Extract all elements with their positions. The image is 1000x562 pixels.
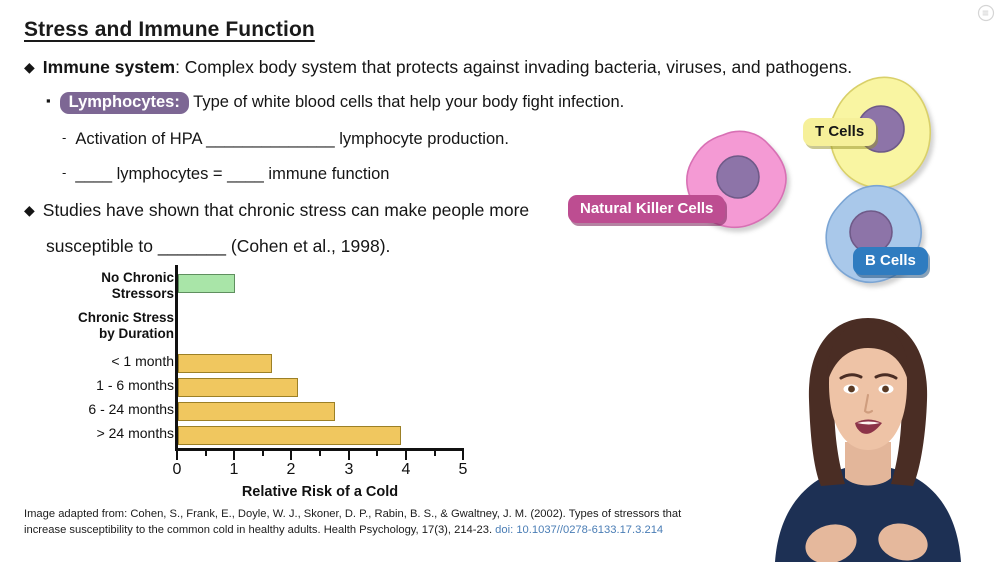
ylabel-line-1: No Chronic (101, 270, 174, 285)
b-cell-illustration (817, 180, 932, 295)
ylabel-6-24-months: 6 - 24 months (88, 402, 174, 418)
ylabel-line-4: by Duration (99, 326, 174, 341)
t-cells-label: T Cells (803, 118, 876, 146)
xtick-minor-0-5 (205, 451, 207, 456)
bar-lt-1-month (178, 354, 272, 373)
xtick-minor-3-5 (376, 451, 378, 456)
xtick-5 (462, 451, 464, 460)
presenter-video-overlay (735, 292, 1000, 562)
xtick-label-3: 3 (345, 461, 354, 479)
xtick-label-1: 1 (230, 461, 239, 479)
xtick-0 (176, 451, 178, 460)
chart-x-axis-title: Relative Risk of a Cold (175, 484, 465, 500)
xtick-2 (290, 451, 292, 460)
bullet-studies-line1: ◆Studies have shown that chronic stress … (24, 200, 529, 221)
diamond-bullet-icon: ◆ (24, 59, 35, 75)
xtick-minor-1-5 (262, 451, 264, 456)
square-bullet-icon: ▪ (46, 93, 51, 108)
diamond-bullet-icon-2: ◆ (24, 202, 35, 218)
xtick-3 (348, 451, 350, 460)
citation: Image adapted from: Cohen, S., Frank, E.… (24, 506, 704, 538)
bullet-studies-line2: susceptible to _______ (Cohen et al., 19… (46, 236, 390, 257)
xtick-minor-4-5 (434, 451, 436, 456)
natural-killer-cell-illustration (675, 127, 795, 242)
ylabel-line-3: Chronic Stress (78, 310, 174, 325)
citation-doi-link[interactable]: doi: 10.1037//0278-6133.17.3.214 (495, 524, 663, 536)
bullet-lymphocytes: ▪Lymphocytes: Type of white blood cells … (46, 92, 624, 114)
xtick-1 (233, 451, 235, 460)
subbullet-lymphocyte-equation: -____ lymphocytes = ____ immune function (62, 165, 390, 185)
subbullet-text-hpa: Activation of HPA ______________ lymphoc… (75, 130, 509, 148)
page-title: Stress and Immune Function (24, 18, 315, 42)
subbullet-text-equation: ____ lymphocytes = ____ immune function (75, 165, 389, 183)
natural-killer-cells-label: Natural Killer Cells (568, 195, 725, 223)
xtick-label-5: 5 (459, 461, 468, 479)
xtick-label-2: 2 (287, 461, 296, 479)
b-cells-label: B Cells (853, 247, 928, 275)
bar-6-24-months (178, 402, 335, 421)
relative-risk-bar-chart: No Chronic Stressors Chronic Stress by D… (22, 262, 492, 502)
bullet-term-immune-system: Immune system (43, 57, 175, 77)
ylabel-gt-24-months: > 24 months (97, 426, 174, 442)
xtick-label-0: 0 (173, 461, 182, 479)
bullet-text-studies: Studies have shown that chronic stress c… (43, 200, 529, 220)
ylabel-1-6-months: 1 - 6 months (96, 378, 174, 394)
ylabel-line-2: Stressors (112, 286, 174, 301)
xtick-label-4: 4 (402, 461, 411, 479)
immune-cell-diagram: T Cells Natural Killer Cells B Cells (555, 55, 1000, 300)
bar-1-6-months (178, 378, 298, 397)
lymphocytes-highlight: Lymphocytes: (60, 92, 189, 114)
dash-bullet-icon-2: - (62, 165, 66, 180)
dash-bullet-icon: - (62, 130, 66, 145)
watermark-icon (977, 4, 995, 22)
bar-no-chronic-stressors (178, 274, 235, 293)
presenter-figure (735, 292, 1000, 562)
chart-plot-area (178, 266, 464, 448)
xtick-4 (405, 451, 407, 460)
slide-canvas: Stress and Immune Function ◆Immune syste… (0, 0, 1000, 562)
bar-gt-24-months (178, 426, 401, 445)
subbullet-hpa-activation: -Activation of HPA ______________ lympho… (62, 130, 509, 150)
ylabel-lt-1-month: < 1 month (111, 354, 174, 370)
xtick-minor-2-5 (319, 451, 321, 456)
